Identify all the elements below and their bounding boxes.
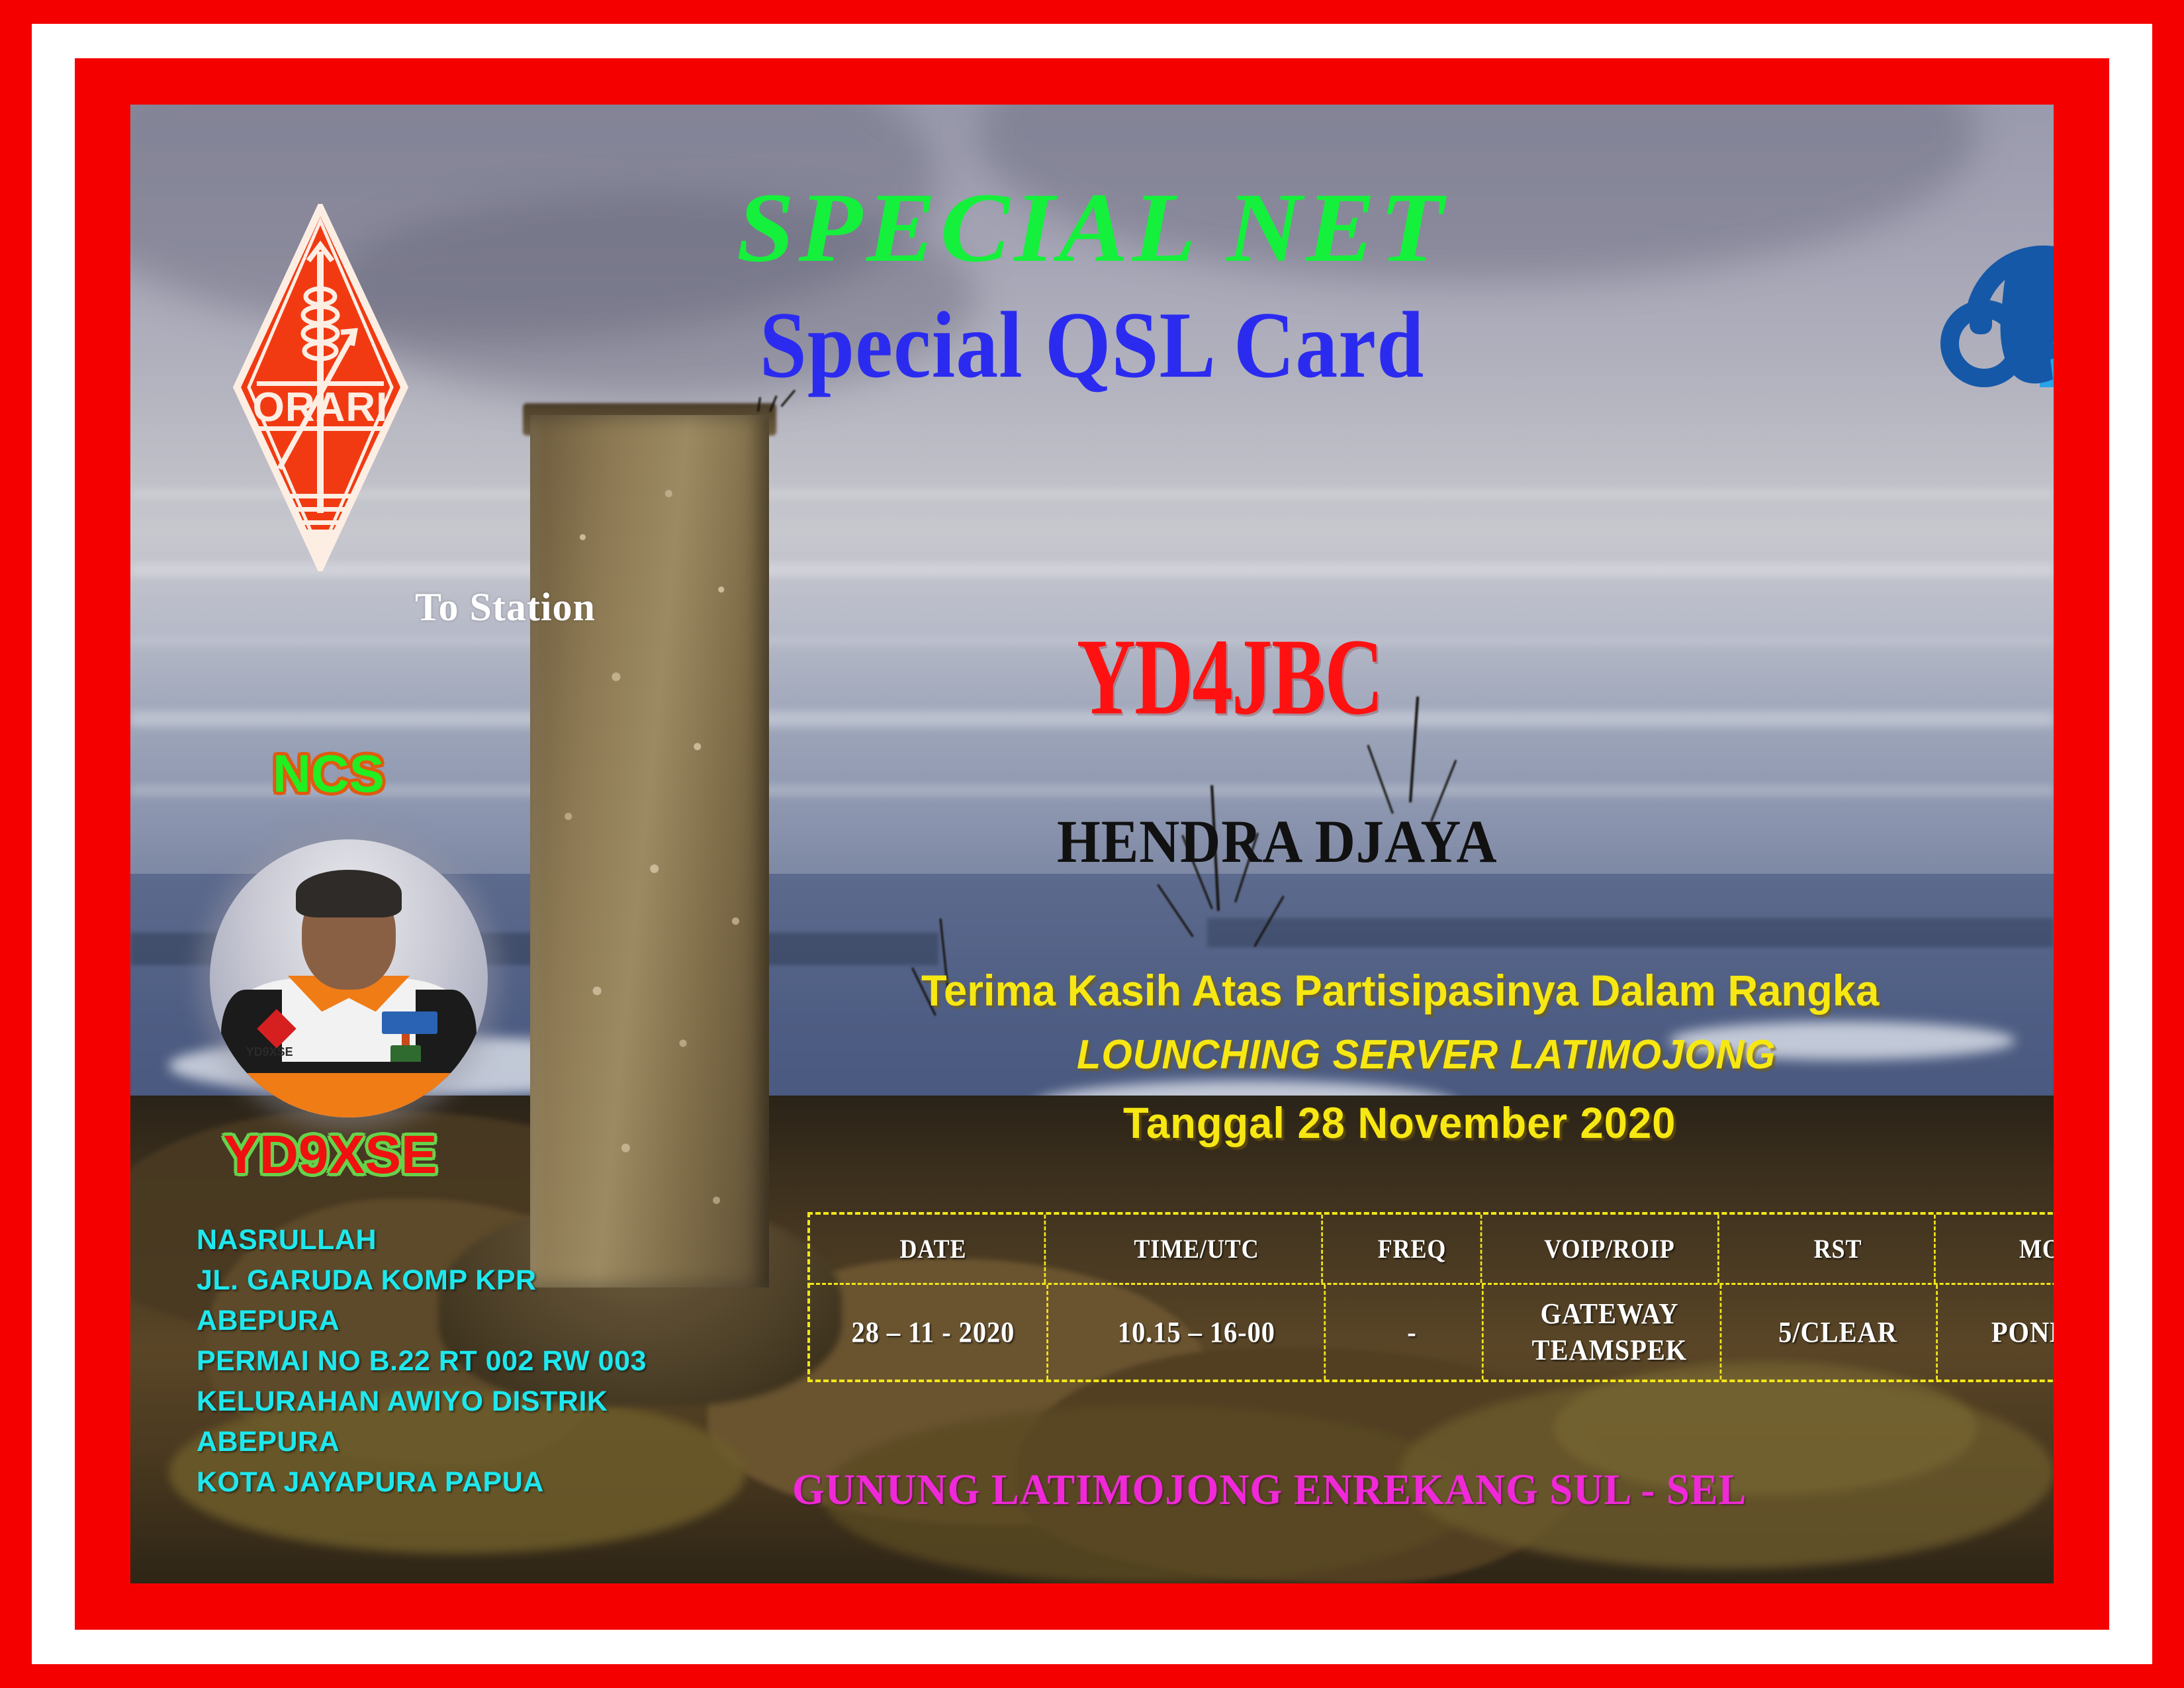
column-header-voip-roip: VOIP/ROIP: [1502, 1215, 1719, 1283]
table-header-row: DATE TIME/UTC FREQ VOIP/ROIP RST MODE: [810, 1215, 2054, 1285]
cell-date: 28 – 11 - 2020: [820, 1285, 1048, 1380]
cell-mode: PONE/CW: [1955, 1285, 2054, 1380]
to-station-label: To Station: [415, 585, 596, 630]
column-header-freq: FREQ: [1344, 1215, 1482, 1283]
stone-monument: [530, 415, 768, 1288]
table-row: 28 – 11 - 2020 10.15 – 16-00 - GATEWAY T…: [810, 1285, 2054, 1380]
card-white-frame: ORARI: [32, 24, 2152, 1664]
event-date: Tanggal 28 November 2020: [1123, 1098, 1676, 1148]
cell-rst: 5/CLEAR: [1740, 1285, 1938, 1380]
address-line: JL. GARUDA KOMP KPR: [197, 1260, 647, 1301]
address-line: ABEPURA: [197, 1301, 647, 1341]
sender-address: NASRULLAH JL. GARUDA KOMP KPR ABEPURA PE…: [197, 1220, 647, 1503]
address-line: PERMAI NO B.22 RT 002 RW 003: [197, 1341, 647, 1382]
address-line: ABEPURA: [197, 1422, 647, 1462]
qsl-card: ORARI: [0, 0, 2184, 1688]
address-line: KELURAHAN AWIYO DISTRIK: [197, 1382, 647, 1422]
avatar-uniform-callsign: YD9XSE: [246, 1045, 293, 1059]
ncs-label: NCS: [273, 743, 385, 804]
thanks-line-1: Terima Kasih Atas Partisipasinya Dalam R…: [921, 965, 1879, 1015]
operator-name: HENDRA DJAYA: [1057, 806, 1498, 876]
ncs-callsign: YD9XSE: [223, 1124, 437, 1186]
card-inner-red-frame: ORARI: [75, 58, 2109, 1630]
venue-location: GUNUNG LATIMOJONG ENREKANG SUL - SEL: [792, 1465, 1747, 1515]
page-subtitle: Special QSL Card: [130, 291, 2054, 400]
column-header-date: DATE: [823, 1215, 1046, 1283]
qso-details-table: DATE TIME/UTC FREQ VOIP/ROIP RST MODE 28…: [807, 1212, 2054, 1382]
column-header-mode: MODE: [1957, 1215, 2054, 1283]
recipient-callsign: YD4JBC: [1077, 614, 1383, 739]
column-header-time-utc: TIME/UTC: [1072, 1215, 1323, 1283]
event-name: LOUNCHING SERVER LATIMOJONG: [1077, 1031, 1776, 1078]
column-header-rst: RST: [1742, 1215, 1935, 1283]
card-background-photo: ORARI: [130, 105, 2054, 1583]
address-line: NASRULLAH: [197, 1220, 647, 1260]
cell-freq: -: [1343, 1285, 1484, 1380]
ncs-operator-avatar: YD9XSE: [210, 839, 488, 1117]
address-line: KOTA JAYAPURA PAPUA: [197, 1462, 647, 1503]
page-title: SPECIAL NET: [130, 171, 2054, 285]
cell-time-utc: 10.15 – 16-00: [1069, 1285, 1325, 1380]
cell-voip-roip: GATEWAY TEAMSPEK: [1500, 1285, 1721, 1380]
